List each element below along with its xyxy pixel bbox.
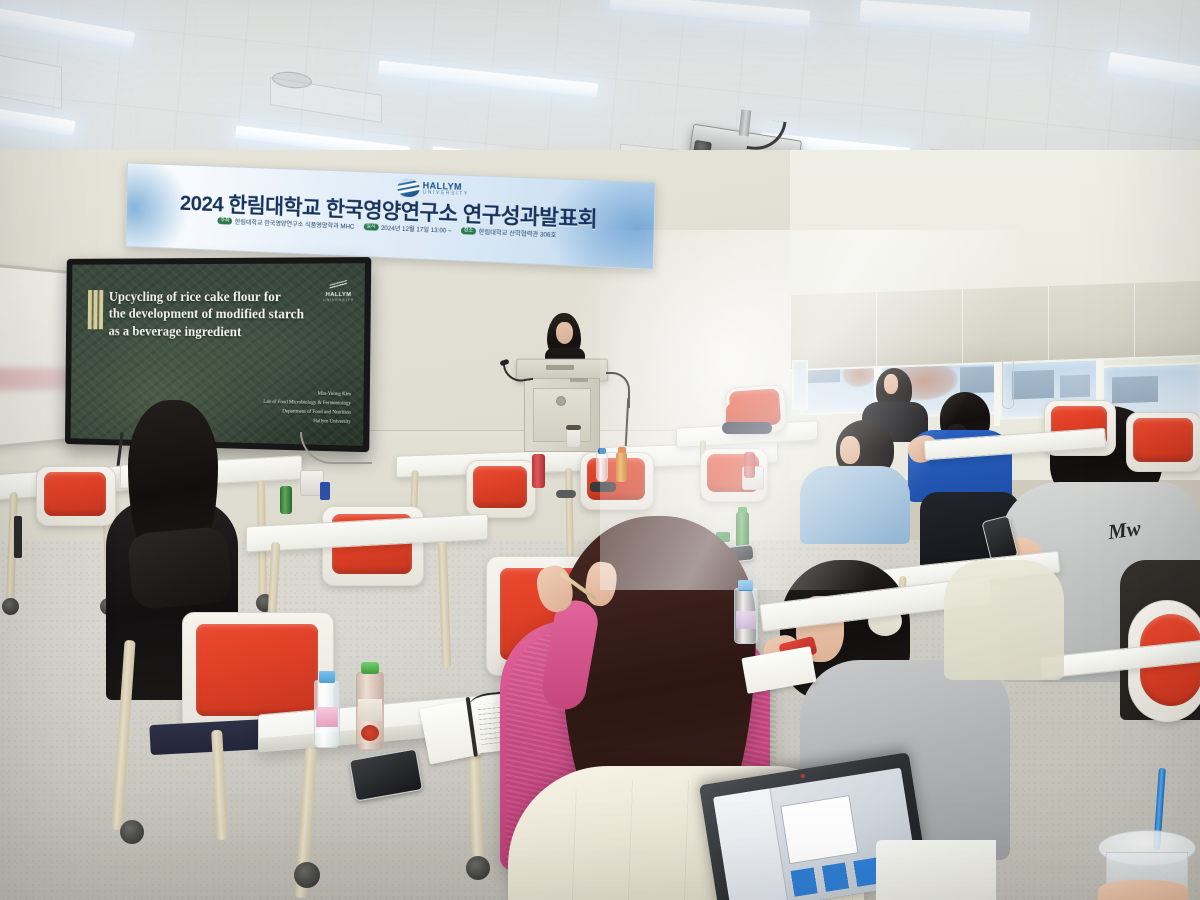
window-blind-cord[interactable] <box>1002 356 1014 409</box>
desk-bag <box>722 422 772 434</box>
chair-backrest[interactable] <box>44 472 106 516</box>
juice-bottle-icon <box>616 452 627 482</box>
slide-title-line2: the development of modified starch <box>109 305 311 323</box>
presentation-slide: Upcycling of rice cake flour for the dev… <box>71 263 365 446</box>
hallym-logo-icon <box>330 280 348 291</box>
window-pane <box>792 360 808 410</box>
desk-caster <box>2 598 19 615</box>
window-blinds[interactable] <box>790 281 1200 371</box>
banner-meta-datetime-text: 2024년 12월 17일 13:00 ~ <box>381 223 452 235</box>
desk-caster <box>466 856 490 880</box>
slide-title-line3: as a beverage ingredient <box>108 322 310 341</box>
banner-meta-host-chip: 주최 <box>217 217 232 225</box>
juice-bottle-icon <box>356 672 384 750</box>
laptop-app-document <box>780 795 859 864</box>
desk <box>876 840 996 900</box>
banner-meta-datetime-chip: 일시 <box>363 223 378 231</box>
desk-caster <box>294 862 320 888</box>
marker-icon <box>320 482 330 500</box>
presentation-display: Upcycling of rice cake flour for the dev… <box>65 257 371 452</box>
student-black-coat-jacket <box>127 526 233 610</box>
hand <box>1098 880 1188 900</box>
slide-title-line1: Upcycling of rice cake flour for <box>109 288 311 306</box>
juice-bottle-icon <box>280 486 292 514</box>
drink-cup-icon <box>566 427 581 448</box>
podium-label <box>546 365 574 370</box>
water-bottle-icon <box>596 452 608 482</box>
student-lightblue-face <box>840 436 860 464</box>
slide-hallym-logo: HALLYM UNIVERSITY <box>323 280 355 302</box>
banner-meta-venue-chip: 장소 <box>461 227 477 235</box>
tumbler-icon <box>532 454 545 488</box>
classroom-photo: HALLYM UNIVERSITY 2024 한림대학교 한국영양연구소 연구성… <box>0 0 1200 900</box>
desk-item <box>556 490 576 498</box>
student-cream-rightside <box>944 560 1064 680</box>
student-back-row-face <box>884 374 898 394</box>
chair-caster <box>120 820 144 844</box>
podium-tag <box>570 378 588 382</box>
tumbler-icon <box>744 452 755 478</box>
hallym-logo-icon <box>397 178 419 197</box>
chair-backrest[interactable] <box>1133 418 1193 462</box>
slide-title: Upcycling of rice cake flour for the dev… <box>108 288 311 341</box>
slide-presenter-block: Min-Young Kim Lab of Food Microbiology &… <box>263 389 351 428</box>
slide-logo-sub: UNIVERSITY <box>323 299 354 303</box>
water-bottle-icon <box>314 680 340 748</box>
eyeglasses-icon <box>590 482 616 492</box>
chair-seat[interactable] <box>149 719 270 755</box>
slide-presenter-univ: Hallym University <box>263 416 351 427</box>
banner-meta-venue-text: 한림대학교 산학협력관 306호 <box>479 227 557 239</box>
desk-support <box>14 516 22 558</box>
chair-backrest[interactable] <box>473 466 527 508</box>
slide-accent-bars <box>88 290 104 329</box>
student-lightblue-body <box>800 466 910 544</box>
presenter-face <box>556 322 573 344</box>
juice-bottle-icon <box>736 512 749 548</box>
chair-backrest[interactable] <box>196 624 318 716</box>
podium-knob[interactable] <box>556 396 566 406</box>
water-bottle-icon <box>734 588 758 644</box>
